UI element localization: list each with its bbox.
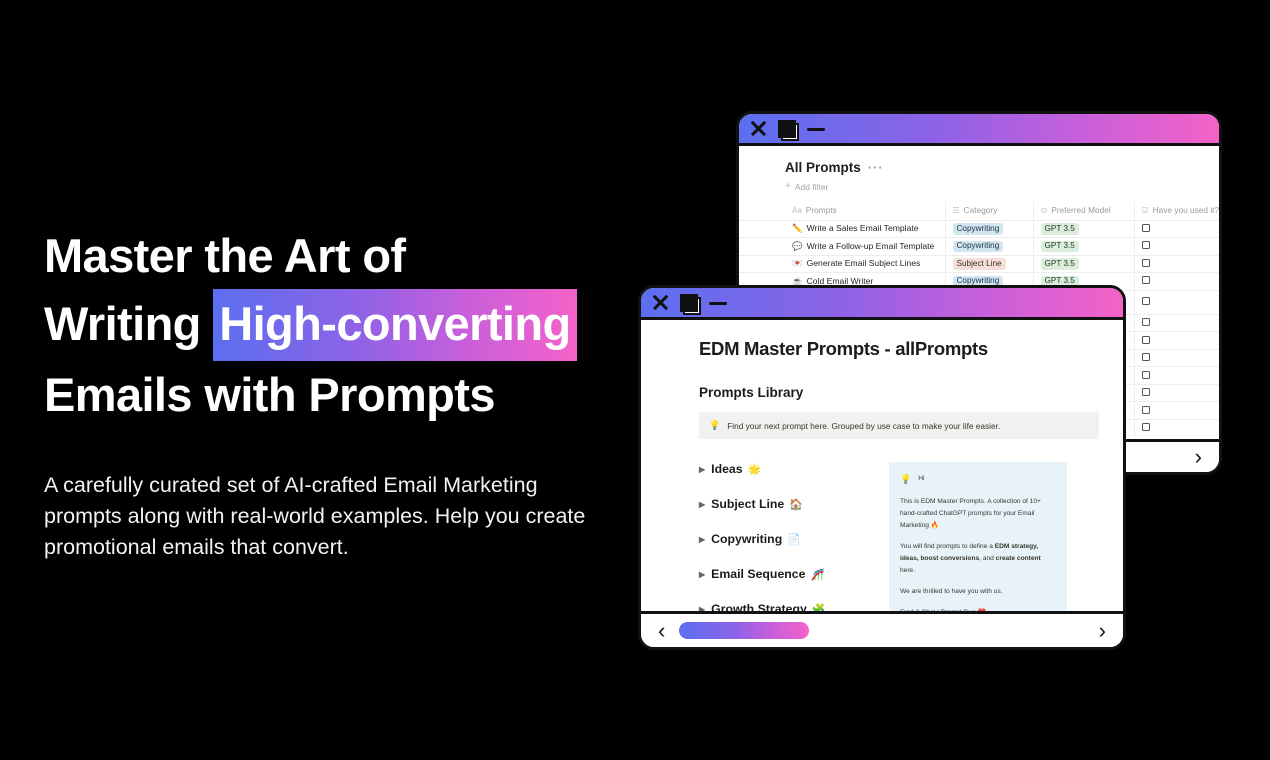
- column-header-prompts[interactable]: AaPrompts: [785, 201, 945, 220]
- used-checkbox[interactable]: [1142, 371, 1150, 379]
- lightbulb-icon: 💡: [900, 473, 911, 485]
- category-emoji-icon: 🎢: [810, 568, 824, 581]
- used-checkbox[interactable]: [1142, 297, 1150, 305]
- used-checkbox[interactable]: [1142, 388, 1150, 396]
- hero-text-block: Master the Art of Writing High-convertin…: [44, 222, 644, 563]
- table-header: AaPrompts ☰Category ⊙Preferred Model ☑Ha…: [739, 201, 1219, 220]
- lightbulb-icon: 💡: [709, 420, 720, 431]
- column-header-preferred-model-label: Preferred Model: [1051, 205, 1111, 215]
- column-header-prompts-label: Prompts: [806, 205, 837, 215]
- note-p2-mid: , and: [979, 555, 996, 562]
- cell-used[interactable]: [1134, 314, 1219, 332]
- back-page-title-text: All Prompts: [785, 160, 861, 175]
- add-filter-label: Add filter: [795, 182, 829, 192]
- page-title: Master the Art of Writing High-convertin…: [44, 222, 644, 428]
- front-window-titlebar[interactable]: [641, 288, 1123, 320]
- cell-category[interactable]: Copywriting: [945, 220, 1033, 238]
- cell-prompt-name[interactable]: ✏️Write a Sales Email Template: [785, 220, 945, 238]
- section-heading-prompts-library: Prompts Library: [699, 385, 1099, 400]
- note-greeting: Hi: [918, 473, 924, 485]
- category-item-copywriting[interactable]: ▶Copywriting📄: [699, 532, 871, 546]
- used-checkbox[interactable]: [1142, 259, 1150, 267]
- note-paragraph-2: You will find prompts to define a EDM st…: [900, 541, 1054, 577]
- category-emoji-icon: 🏠: [789, 498, 803, 511]
- cell-category[interactable]: Subject Line: [945, 255, 1033, 273]
- category-item-email-sequence[interactable]: ▶Email Sequence🎢: [699, 567, 871, 581]
- cell-used[interactable]: [1134, 220, 1219, 238]
- category-tag: Subject Line: [953, 258, 1006, 269]
- minimize-icon[interactable]: [807, 128, 825, 131]
- headline-line-1: Master the Art of: [44, 222, 644, 289]
- table-row[interactable]: ✏️Write a Sales Email TemplateCopywritin…: [739, 220, 1219, 238]
- cell-category[interactable]: Copywriting: [945, 238, 1033, 256]
- note-greeting-row: 💡 Hi: [900, 473, 1054, 485]
- note-paragraph-1: This is EDM Master Prompts. A collection…: [900, 496, 1054, 532]
- note-p2-post: here.: [900, 567, 915, 574]
- cell-used[interactable]: [1134, 349, 1219, 367]
- cell-preferred-model[interactable]: GPT 3.5: [1033, 238, 1134, 256]
- category-tag: Copywriting: [953, 223, 1004, 234]
- table-spacer-cell: [739, 201, 785, 220]
- used-checkbox[interactable]: [1142, 224, 1150, 232]
- info-callout: 💡 Find your next prompt here. Grouped by…: [699, 412, 1099, 439]
- close-icon[interactable]: [652, 294, 669, 311]
- table-row[interactable]: 💌Generate Email Subject LinesSubject Lin…: [739, 255, 1219, 273]
- welcome-note-callout: 💡 Hi This is EDM Master Prompts. A colle…: [889, 462, 1067, 614]
- category-tag: Copywriting: [953, 241, 1004, 252]
- column-header-preferred-model[interactable]: ⊙Preferred Model: [1033, 201, 1134, 220]
- toggle-triangle-icon[interactable]: ▶: [699, 500, 705, 509]
- maximize-icon[interactable]: [680, 294, 698, 311]
- back-page-title: All Prompts ···: [739, 160, 1219, 175]
- model-tag: GPT 3.5: [1041, 223, 1079, 234]
- category-emoji-icon: 📄: [787, 533, 801, 546]
- note-p2-bold-2: create content: [996, 555, 1041, 562]
- next-button[interactable]: ›: [1099, 620, 1106, 642]
- plus-icon: +: [785, 183, 791, 191]
- note-p2-pre: You will find prompts to define a: [900, 543, 995, 550]
- cell-preferred-model[interactable]: GPT 3.5: [1033, 220, 1134, 238]
- category-item-subject-line[interactable]: ▶Subject Line🏠: [699, 497, 871, 511]
- category-item-ideas[interactable]: ▶Ideas🌟: [699, 462, 871, 476]
- category-label: Subject Line: [711, 497, 784, 511]
- used-checkbox[interactable]: [1142, 406, 1150, 414]
- row-spacer-cell: [739, 255, 785, 273]
- front-window-body: EDM Master Prompts - allPrompts Prompts …: [641, 320, 1123, 614]
- promo-banner: Master the Art of Writing High-convertin…: [0, 0, 1270, 760]
- hero-subcopy: A carefully curated set of AI-crafted Em…: [44, 470, 619, 563]
- cell-used[interactable]: [1134, 367, 1219, 385]
- headline-line-2-text: Writing: [44, 297, 213, 350]
- add-filter-button[interactable]: + Add filter: [739, 182, 1219, 192]
- close-icon[interactable]: [750, 120, 767, 137]
- front-page-title: EDM Master Prompts - allPrompts: [699, 338, 1099, 360]
- more-options-icon[interactable]: ···: [868, 164, 884, 172]
- used-checkbox[interactable]: [1142, 241, 1150, 249]
- cell-used[interactable]: [1134, 238, 1219, 256]
- model-tag: GPT 3.5: [1041, 241, 1079, 252]
- used-checkbox[interactable]: [1142, 336, 1150, 344]
- toggle-triangle-icon[interactable]: ▶: [699, 465, 705, 474]
- category-list: ▶Ideas🌟▶Subject Line🏠▶Copywriting📄▶Email…: [699, 462, 871, 614]
- note-paragraph-3: We are thrilled to have you with us.: [900, 586, 1054, 598]
- back-window-titlebar[interactable]: [739, 114, 1219, 146]
- column-header-category-label: Category: [964, 205, 998, 215]
- toggle-triangle-icon[interactable]: ▶: [699, 535, 705, 544]
- column-header-used[interactable]: ☑Have you used it?: [1134, 201, 1219, 220]
- cell-preferred-model[interactable]: GPT 3.5: [1033, 255, 1134, 273]
- minimize-icon[interactable]: [709, 302, 727, 305]
- front-content-columns: ▶Ideas🌟▶Subject Line🏠▶Copywriting📄▶Email…: [699, 462, 1099, 614]
- list-icon: ☰: [953, 206, 960, 215]
- cell-prompt-name[interactable]: 💬Write a Follow-up Email Template: [785, 238, 945, 256]
- column-header-category[interactable]: ☰Category: [945, 201, 1033, 220]
- row-emoji-icon: 💌: [792, 258, 803, 268]
- category-emoji-icon: 🌟: [748, 463, 762, 476]
- table-row[interactable]: 💬Write a Follow-up Email TemplateCopywri…: [739, 238, 1219, 256]
- progress-bar[interactable]: [679, 622, 1084, 639]
- front-window-footer: ‹ ›: [641, 611, 1123, 647]
- used-checkbox[interactable]: [1142, 353, 1150, 361]
- used-checkbox[interactable]: [1142, 276, 1150, 284]
- category-label: Ideas: [711, 462, 742, 476]
- checkbox-icon: ☑: [1142, 206, 1149, 215]
- cell-used[interactable]: [1134, 273, 1219, 291]
- row-emoji-icon: ✏️: [792, 223, 803, 233]
- select-icon: ⊙: [1041, 206, 1048, 215]
- headline-line-2: Writing High-converting: [44, 289, 644, 361]
- row-emoji-icon: 💬: [792, 241, 803, 251]
- headline-line-3: Emails with Prompts: [44, 361, 644, 428]
- category-label: Email Sequence: [711, 567, 805, 581]
- cell-used[interactable]: [1134, 332, 1219, 350]
- maximize-icon[interactable]: [778, 120, 796, 137]
- cell-used[interactable]: [1134, 419, 1219, 437]
- cell-used[interactable]: [1134, 255, 1219, 273]
- row-spacer-cell: [739, 220, 785, 238]
- category-label: Copywriting: [711, 532, 782, 546]
- info-callout-text: Find your next prompt here. Grouped by u…: [727, 421, 1000, 431]
- column-header-used-label: Have you used it?: [1153, 205, 1219, 215]
- model-tag: GPT 3.5: [1041, 258, 1079, 269]
- cell-prompt-name[interactable]: 💌Generate Email Subject Lines: [785, 255, 945, 273]
- cell-used[interactable]: [1134, 402, 1219, 420]
- used-checkbox[interactable]: [1142, 318, 1150, 326]
- right-column: 💡 Hi This is EDM Master Prompts. A colle…: [889, 462, 1067, 614]
- used-checkbox[interactable]: [1142, 423, 1150, 431]
- next-button[interactable]: ›: [1195, 446, 1202, 468]
- cell-used[interactable]: [1134, 384, 1219, 402]
- cell-used[interactable]: [1134, 290, 1219, 314]
- window-edm-master-prompts[interactable]: EDM Master Prompts - allPrompts Prompts …: [638, 285, 1126, 650]
- prev-button[interactable]: ‹: [658, 620, 665, 642]
- toggle-triangle-icon[interactable]: ▶: [699, 570, 705, 579]
- progress-pill[interactable]: [679, 622, 809, 639]
- row-spacer-cell: [739, 238, 785, 256]
- aa-icon: Aa: [792, 206, 802, 215]
- headline-highlight: High-converting: [213, 289, 576, 361]
